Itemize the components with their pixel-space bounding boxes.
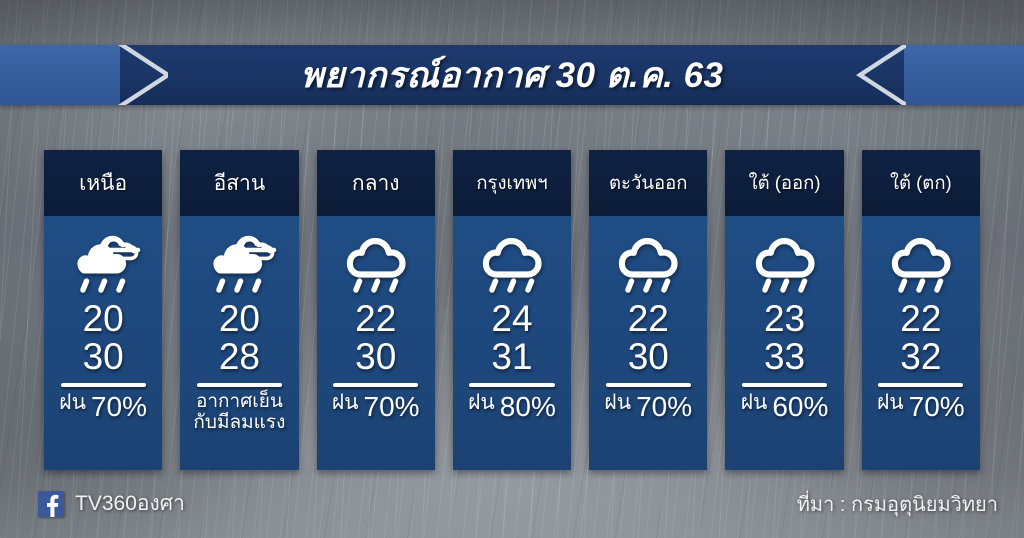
title-banner: พยากรณ์อากาศ 30 ต.ค. 63 xyxy=(0,45,1024,105)
temperature-range: 2230 xyxy=(628,300,669,376)
temperature-range: 2232 xyxy=(900,300,941,376)
forecast-card: อีสาน 2028อากาศเย็นกับมีลมแรง xyxy=(180,150,298,470)
temperature-high: 31 xyxy=(491,338,532,376)
rain-chance-value: 70% xyxy=(909,391,965,423)
cloud-rain-outline-icon xyxy=(605,228,691,296)
condition-note-line: กับมีลมแรง xyxy=(193,412,285,433)
facebook-icon[interactable] xyxy=(38,491,64,517)
cloud-rain-outline-icon xyxy=(742,228,828,296)
temperature-low: 24 xyxy=(491,300,532,338)
rain-chance-value: 60% xyxy=(772,391,828,423)
facebook-handle[interactable]: TV360องศา xyxy=(38,487,185,520)
region-name: ตะวันออก xyxy=(589,150,707,216)
rain-chance-label: ฝน xyxy=(877,386,904,419)
temperature-low: 22 xyxy=(628,300,669,338)
temperature-low: 23 xyxy=(764,300,805,338)
temperature-low: 22 xyxy=(355,300,396,338)
cloud-rain-outline-icon xyxy=(333,228,419,296)
rain-chance: ฝน70% xyxy=(332,391,420,426)
temperature-high: 33 xyxy=(764,338,805,376)
region-name: กลาง xyxy=(317,150,435,216)
divider xyxy=(197,383,282,387)
forecast-card-body: 2431ฝน80% xyxy=(453,216,571,470)
rain-chance-label: ฝน xyxy=(468,386,495,419)
temperature-range: 2431 xyxy=(491,300,532,376)
rain-chance-label: ฝน xyxy=(604,386,631,419)
temperature-high: 30 xyxy=(355,338,396,376)
forecast-card: กลาง 2230ฝน70% xyxy=(317,150,435,470)
facebook-handle-label: TV360องศา xyxy=(75,487,185,520)
rain-chance: ฝน70% xyxy=(59,391,147,426)
temperature-high: 32 xyxy=(900,338,941,376)
rain-chance: ฝน80% xyxy=(468,391,556,426)
forecast-card-body: 2333ฝน60% xyxy=(725,216,843,470)
condition-note: อากาศเย็นกับมีลมแรง xyxy=(191,391,287,433)
region-name: กรุงเทพฯ xyxy=(453,150,571,216)
forecast-card-body: 2030ฝน70% xyxy=(44,216,162,470)
cloud-rain-outline-icon xyxy=(469,228,555,296)
cloud-rain-outline-icon xyxy=(878,228,964,296)
source-credit: ที่มา : กรมอุตุนิยมวิทยา xyxy=(797,488,998,520)
temperature-low: 22 xyxy=(900,300,941,338)
forecast-card: ตะวันออก 2230ฝน70% xyxy=(589,150,707,470)
forecast-card: กรุงเทพฯ 2431ฝน80% xyxy=(453,150,571,470)
temperature-range: 2028 xyxy=(219,300,260,376)
forecast-card: ใต้ (ออก) 2333ฝน60% xyxy=(725,150,843,470)
rain-chance: ฝน60% xyxy=(741,391,829,426)
rain-chance-value: 80% xyxy=(500,391,556,423)
temperature-range: 2333 xyxy=(764,300,805,376)
rain-chance: ฝน70% xyxy=(877,391,965,426)
forecast-card-list: เหนือ 2030ฝน70%อีสาน 2028อากาศเย็นกับมีล… xyxy=(44,150,980,470)
rain-chance-value: 70% xyxy=(636,391,692,423)
temperature-high: 30 xyxy=(83,338,124,376)
rain-chance: ฝน70% xyxy=(604,391,692,426)
rain-chance-label: ฝน xyxy=(332,386,359,419)
temperature-high: 30 xyxy=(628,338,669,376)
rain-chance-value: 70% xyxy=(91,391,147,423)
rain-chance-label: ฝน xyxy=(741,386,768,419)
forecast-card-body: 2232ฝน70% xyxy=(862,216,980,470)
rain-chance-value: 70% xyxy=(364,391,420,423)
region-name: ใต้ (ออก) xyxy=(725,150,843,216)
rain-chance-label: ฝน xyxy=(59,386,86,419)
forecast-card-body: 2230ฝน70% xyxy=(589,216,707,470)
cloud-double-rain-icon xyxy=(196,228,282,296)
page-title: พยากรณ์อากาศ 30 ต.ค. 63 xyxy=(0,45,1024,105)
forecast-card: เหนือ 2030ฝน70% xyxy=(44,150,162,470)
region-name: ใต้ (ตก) xyxy=(862,150,980,216)
region-name: อีสาน xyxy=(180,150,298,216)
temperature-high: 28 xyxy=(219,338,260,376)
temperature-range: 2230 xyxy=(355,300,396,376)
temperature-range: 2030 xyxy=(83,300,124,376)
region-name: เหนือ xyxy=(44,150,162,216)
temperature-low: 20 xyxy=(219,300,260,338)
temperature-low: 20 xyxy=(83,300,124,338)
forecast-card: ใต้ (ตก) 2232ฝน70% xyxy=(862,150,980,470)
condition-note-line: อากาศเย็น xyxy=(193,391,285,412)
cloud-double-rain-icon xyxy=(60,228,146,296)
forecast-card-body: 2230ฝน70% xyxy=(317,216,435,470)
footer: TV360องศา ที่มา : กรมอุตุนิยมวิทยา xyxy=(0,470,1024,538)
forecast-card-body: 2028อากาศเย็นกับมีลมแรง xyxy=(180,216,298,470)
